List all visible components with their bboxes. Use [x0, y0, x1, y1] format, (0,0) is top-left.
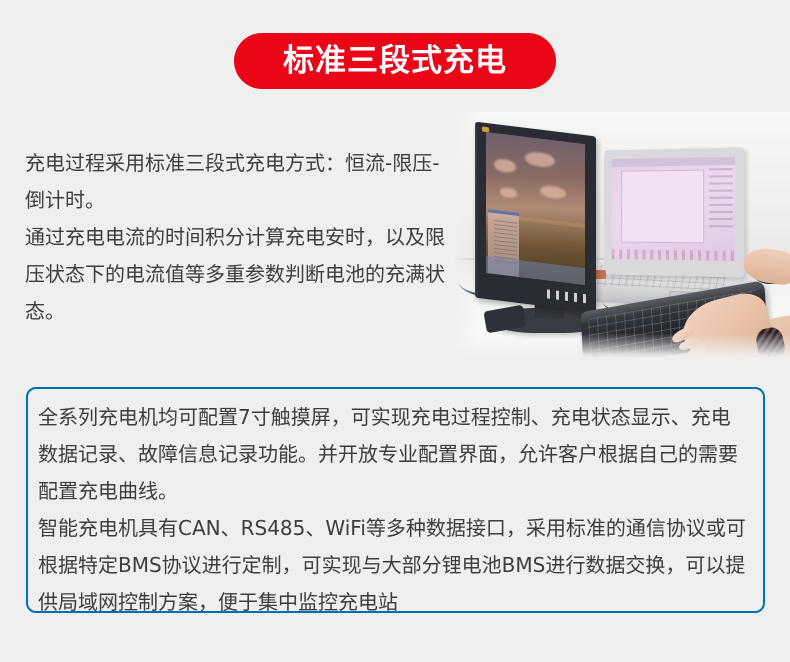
feature-info-box: 全系列充电机均可配置7寸触摸屏，可实现充电过程控制、充电状态显示、充电数据记录、… — [26, 387, 765, 613]
title-banner-pill: 标准三段式充电 — [234, 33, 556, 89]
laptop-status-bar — [612, 249, 735, 261]
laptop-lid — [604, 147, 744, 278]
monitor-taskbar — [486, 256, 585, 285]
page-title: 标准三段式充电 — [283, 46, 507, 77]
monitor-screen — [486, 132, 585, 285]
title-banner: 标准三段式充电 — [0, 33, 790, 89]
wallpaper-cloud — [540, 185, 566, 199]
laptop-document-area — [622, 169, 705, 243]
photo-left-fade — [455, 112, 478, 357]
laptop-window-titlebar — [612, 156, 735, 166]
photo-bottom-fade — [455, 333, 790, 358]
monitor-body — [475, 122, 596, 313]
laptop-side-panel — [710, 168, 733, 230]
intro-paragraph: 充电过程采用标准三段式充电方式：恒流-限压-倒计时。 通过充电电流的时间积分计算… — [25, 145, 445, 330]
feature-info-text: 全系列充电机均可配置7寸触摸屏，可实现充电过程控制、充电状态显示、充电数据记录、… — [38, 399, 750, 621]
workstation-photo — [455, 112, 790, 357]
wallpaper-cloud — [525, 151, 555, 169]
laptop-screen — [612, 156, 735, 260]
wallpaper-cloud — [500, 187, 518, 199]
wallpaper-cloud — [494, 158, 516, 173]
monitor-bezel-buttons — [547, 289, 588, 303]
